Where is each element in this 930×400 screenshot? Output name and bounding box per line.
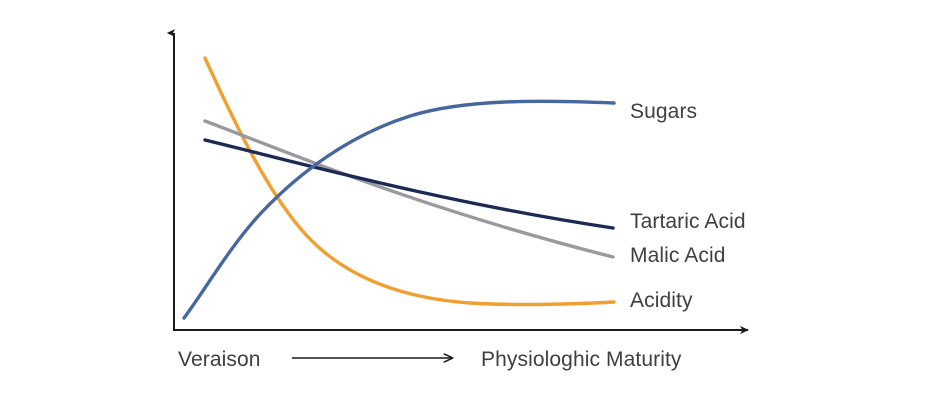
series-line-acidity — [205, 58, 614, 305]
x-axis-start-label: Veraison — [178, 348, 261, 371]
grape-ripening-chart: Sugars Tartaric Acid Malic Acid Acidity … — [0, 0, 930, 400]
series-label-sugars: Sugars — [630, 100, 697, 123]
series-label-malic-acid: Malic Acid — [630, 244, 726, 267]
series-label-acidity: Acidity — [630, 289, 693, 312]
x-axis-end-label: Physiologhic Maturity — [481, 348, 682, 371]
series-line-tartaric-acid — [205, 140, 613, 228]
series-label-tartaric-acid: Tartaric Acid — [630, 210, 746, 233]
series-line-sugars — [184, 101, 614, 318]
chart-canvas: Sugars Tartaric Acid Malic Acid Acidity … — [0, 0, 930, 400]
